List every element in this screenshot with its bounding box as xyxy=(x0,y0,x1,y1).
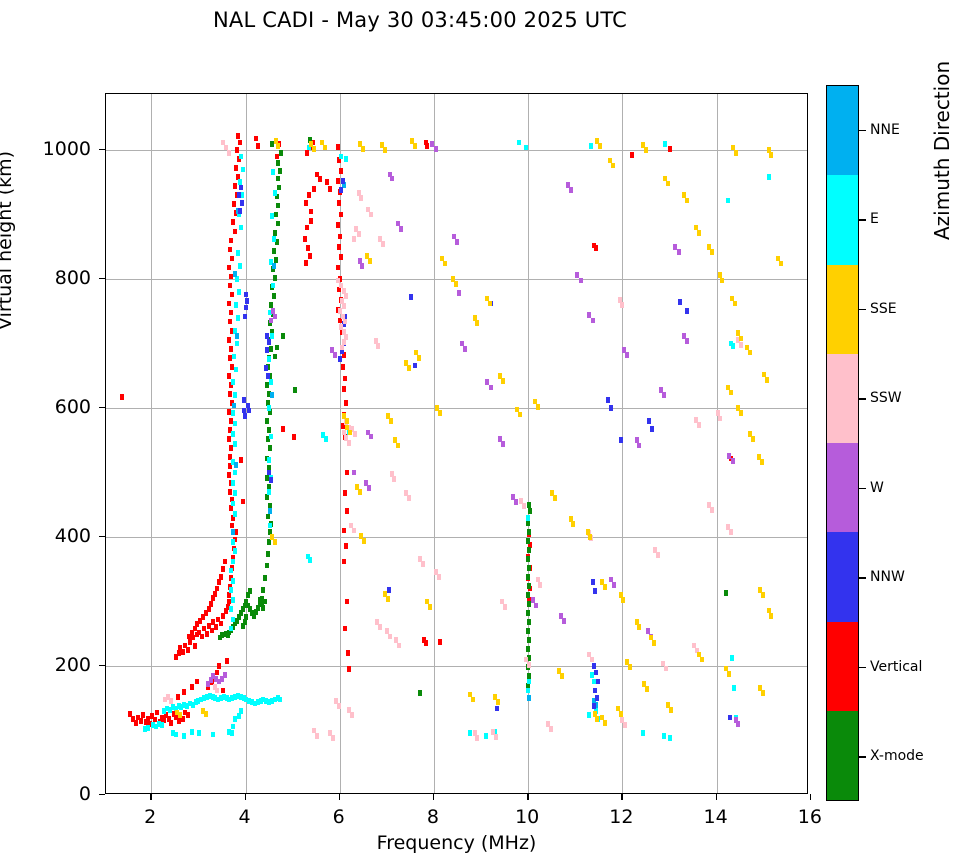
echo-marker-e xyxy=(268,523,272,529)
colorbar-label-ssw: SSW xyxy=(870,390,902,406)
echo-marker-e xyxy=(239,154,243,160)
echo-marker-vertical xyxy=(256,143,260,149)
echo-marker-nnw xyxy=(591,579,595,585)
echo-marker-nnw xyxy=(243,413,247,419)
echo-marker-vertical xyxy=(594,245,598,251)
echo-marker-x-mode xyxy=(526,628,530,634)
echo-marker-sse xyxy=(396,443,400,449)
echo-marker-nnw xyxy=(609,405,613,411)
y-axis-tick-label: 600 xyxy=(0,396,91,418)
echo-marker-w xyxy=(731,458,735,464)
echo-marker-x-mode xyxy=(276,203,280,209)
echo-marker-vertical xyxy=(343,626,347,632)
echo-marker-e xyxy=(231,431,235,437)
echo-marker-sse xyxy=(748,350,752,356)
echo-marker-vertical xyxy=(215,670,219,676)
echo-marker-ssw xyxy=(527,662,531,668)
echo-marker-x-mode xyxy=(526,646,530,652)
echo-marker-vertical xyxy=(292,434,296,440)
echo-marker-sse xyxy=(760,459,764,465)
echo-marker-x-mode xyxy=(418,690,422,696)
echo-marker-sse xyxy=(669,707,673,713)
echo-marker-vertical xyxy=(275,154,279,160)
echo-marker-sse xyxy=(603,584,607,590)
echo-marker-ssw xyxy=(350,712,354,718)
echo-marker-w xyxy=(273,314,277,320)
echo-marker-sse xyxy=(733,301,737,307)
echo-marker-sse xyxy=(475,320,479,326)
echo-marker-vertical xyxy=(235,147,239,153)
echo-marker-ssw xyxy=(352,236,356,242)
colorbar-tick xyxy=(859,577,866,578)
echo-marker-sse xyxy=(611,163,615,169)
echo-marker-w xyxy=(514,499,518,505)
y-axis-tick xyxy=(99,536,105,537)
echo-marker-w xyxy=(269,318,273,324)
echo-marker-e xyxy=(231,480,235,486)
echo-marker-x-mode xyxy=(527,529,531,535)
echo-marker-sse xyxy=(273,539,277,545)
echo-marker-nnw xyxy=(265,347,269,353)
echo-marker-nne xyxy=(527,695,531,701)
echo-marker-x-mode xyxy=(528,508,532,514)
x-axis-tick xyxy=(433,794,434,800)
echo-marker-e xyxy=(233,470,237,476)
echo-marker-x-mode xyxy=(526,592,530,598)
echo-marker-sse xyxy=(628,664,632,670)
echo-marker-vertical xyxy=(231,219,235,225)
echo-marker-sse xyxy=(488,301,492,307)
echo-marker-nnw xyxy=(265,333,269,339)
echo-marker-vertical xyxy=(225,658,229,664)
echo-marker-vertical xyxy=(229,346,233,352)
echo-marker-e xyxy=(197,730,201,736)
echo-marker-sse xyxy=(666,181,670,187)
echo-marker-ssw xyxy=(359,195,363,201)
echo-marker-sse xyxy=(518,412,522,418)
echo-marker-nnw xyxy=(593,588,597,594)
echo-marker-e xyxy=(231,724,235,730)
colorbar-tick xyxy=(859,488,866,489)
echo-marker-sse xyxy=(323,145,327,151)
x-axis-tick xyxy=(716,794,717,800)
echo-marker-e xyxy=(236,250,240,256)
echo-marker-e xyxy=(233,441,237,447)
echo-marker-vertical xyxy=(339,212,343,218)
x-axis-tick-label: 2 xyxy=(144,806,156,828)
echo-marker-vertical xyxy=(345,599,349,605)
echo-marker-x-mode xyxy=(276,221,280,227)
gridline-vertical xyxy=(246,94,247,793)
echo-marker-vertical xyxy=(141,712,145,718)
echo-marker-w xyxy=(662,392,666,398)
echo-marker-vertical xyxy=(186,647,190,653)
echo-marker-e xyxy=(267,356,271,362)
echo-marker-x-mode xyxy=(526,610,530,616)
echo-marker-ssw xyxy=(710,507,714,513)
echo-marker-vertical xyxy=(309,209,313,215)
echo-marker-ssw xyxy=(392,476,396,482)
echo-marker-nnw xyxy=(264,365,268,371)
echo-marker-sse xyxy=(312,146,316,152)
echo-marker-sse xyxy=(595,716,599,722)
echo-marker-vertical xyxy=(200,634,204,640)
echo-marker-x-mode xyxy=(273,354,277,360)
y-axis-tick xyxy=(99,665,105,666)
echo-marker-ssw xyxy=(315,733,319,739)
echo-marker-vertical xyxy=(254,136,258,142)
echo-marker-vertical xyxy=(221,688,225,694)
echo-marker-ssw xyxy=(215,688,219,694)
echo-marker-nnw xyxy=(242,397,246,403)
echo-marker-vertical xyxy=(305,150,309,156)
echo-marker-e xyxy=(233,511,237,517)
echo-marker-vertical xyxy=(230,256,234,262)
echo-marker-nnw xyxy=(592,703,596,709)
colorbar-label-nnw: NNW xyxy=(870,569,905,585)
echo-marker-vertical xyxy=(347,666,351,672)
echo-marker-sse xyxy=(428,604,432,610)
echo-marker-vertical xyxy=(325,179,329,185)
echo-marker-x-mode xyxy=(278,168,282,174)
echo-marker-e xyxy=(484,733,488,739)
echo-marker-sse xyxy=(407,365,411,371)
echo-marker-ssw xyxy=(664,666,668,672)
echo-marker-vertical xyxy=(155,710,159,716)
echo-marker-nne xyxy=(232,403,236,409)
colorbar-tick xyxy=(859,309,866,310)
echo-marker-vertical xyxy=(312,186,316,192)
x-axis-tick xyxy=(527,794,528,800)
y-axis-tick-label: 200 xyxy=(0,654,91,676)
echo-marker-vertical xyxy=(345,470,349,476)
y-axis-tick xyxy=(99,278,105,279)
echo-marker-sse xyxy=(383,147,387,153)
echo-marker-x-mode xyxy=(276,160,280,166)
echo-marker-w xyxy=(434,146,438,152)
echo-marker-vertical xyxy=(425,143,429,149)
echo-marker-sse xyxy=(685,198,689,204)
echo-marker-w xyxy=(457,290,461,296)
echo-marker-ssw xyxy=(343,319,347,325)
echo-marker-vertical xyxy=(234,165,238,171)
echo-marker-e xyxy=(232,354,236,360)
echo-marker-sse xyxy=(496,699,500,705)
echo-marker-w xyxy=(736,721,740,727)
echo-marker-vertical xyxy=(182,689,186,695)
echo-marker-sse xyxy=(358,489,362,495)
echo-marker-sse xyxy=(761,690,765,696)
echo-marker-sse xyxy=(739,410,743,416)
echo-marker-e xyxy=(271,169,275,175)
echo-marker-vertical xyxy=(191,635,195,641)
echo-marker-ssw xyxy=(503,604,507,610)
echo-marker-e xyxy=(468,730,472,736)
echo-marker-vertical xyxy=(339,168,343,174)
echo-marker-e xyxy=(241,167,245,173)
echo-marker-e xyxy=(235,276,239,282)
echo-marker-vertical xyxy=(345,508,349,514)
echo-marker-e xyxy=(190,729,194,735)
echo-marker-x-mode xyxy=(267,539,271,545)
echo-marker-e xyxy=(229,606,233,612)
echo-marker-e xyxy=(231,578,235,584)
x-axis-tick-label: 4 xyxy=(238,806,250,828)
echo-marker-ssw xyxy=(475,735,479,741)
echo-marker-vertical xyxy=(337,244,341,250)
echo-marker-vertical xyxy=(228,391,232,397)
echo-marker-e xyxy=(231,379,235,385)
echo-marker-w xyxy=(367,485,371,491)
echo-marker-nnw xyxy=(267,470,271,476)
x-axis-tick-label: 8 xyxy=(427,806,439,828)
echo-marker-w xyxy=(352,470,356,476)
echo-marker-sse xyxy=(368,258,372,264)
echo-marker-e xyxy=(587,712,591,718)
echo-marker-w xyxy=(501,441,505,447)
echo-marker-x-mode xyxy=(527,619,531,625)
x-axis-tick xyxy=(245,794,246,800)
echo-marker-x-mode xyxy=(724,590,728,596)
echo-marker-x-mode xyxy=(265,563,269,569)
echo-marker-e xyxy=(229,568,233,574)
colorbar-label-e: E xyxy=(870,211,879,227)
colorbar-band-sse xyxy=(827,265,858,354)
echo-marker-vertical xyxy=(668,146,672,152)
echo-marker-e xyxy=(308,557,312,563)
echo-marker-nnw xyxy=(594,670,598,676)
echo-marker-nnw xyxy=(245,298,249,304)
colorbar-band-nne xyxy=(827,86,858,175)
echo-marker-nnw xyxy=(619,437,623,443)
echo-marker-vertical xyxy=(344,543,348,549)
echo-marker-vertical xyxy=(229,238,233,244)
echo-marker-ssw xyxy=(169,698,173,704)
echo-marker-vertical xyxy=(181,649,185,655)
echo-marker-vertical xyxy=(338,234,342,240)
echo-marker-w xyxy=(333,352,337,358)
echo-marker-vertical xyxy=(336,222,340,228)
echo-marker-nnw xyxy=(728,715,732,721)
echo-marker-ssw xyxy=(344,293,348,299)
echo-marker-x-mode xyxy=(269,302,273,308)
gridline-horizontal xyxy=(106,666,807,667)
echo-marker-vertical xyxy=(193,643,197,649)
echo-marker-x-mode xyxy=(526,538,530,544)
echo-marker-e xyxy=(526,515,530,521)
echo-marker-vertical xyxy=(336,144,340,150)
echo-marker-sse xyxy=(761,592,765,598)
echo-marker-e xyxy=(344,156,348,162)
echo-marker-nnw xyxy=(266,373,270,379)
echo-marker-vertical xyxy=(228,319,232,325)
echo-marker-vertical xyxy=(233,229,237,235)
echo-marker-ssw xyxy=(227,150,231,156)
echo-marker-vertical xyxy=(181,716,185,722)
echo-marker-e xyxy=(271,283,275,289)
echo-marker-x-mode xyxy=(272,293,276,299)
y-axis-tick-label: 0 xyxy=(0,783,91,805)
echo-marker-nnw xyxy=(244,305,248,311)
echo-marker-ssw xyxy=(697,422,701,428)
echo-marker-vertical xyxy=(221,566,225,572)
echo-marker-vertical xyxy=(304,200,308,206)
echo-marker-nnw xyxy=(592,663,596,669)
echo-marker-w xyxy=(369,434,373,440)
echo-marker-e xyxy=(267,489,271,495)
x-axis-tick xyxy=(810,794,811,800)
echo-marker-e xyxy=(339,154,343,160)
colorbar-tick xyxy=(859,130,866,131)
echo-marker-vertical xyxy=(336,265,340,271)
echo-marker-sse xyxy=(729,390,733,396)
echo-marker-vertical xyxy=(195,679,199,685)
echo-marker-sse xyxy=(501,378,505,384)
echo-marker-ssw xyxy=(369,212,373,218)
echo-marker-e xyxy=(269,434,273,440)
x-axis-tick-label: 14 xyxy=(704,806,728,828)
echo-marker-vertical xyxy=(134,720,138,726)
colorbar-tick xyxy=(859,756,866,757)
echo-marker-e xyxy=(237,713,241,719)
echo-marker-sse xyxy=(588,534,592,540)
x-axis-tick xyxy=(621,794,622,800)
echo-marker-ssw xyxy=(656,552,660,558)
echo-marker-x-mode xyxy=(526,520,530,526)
echo-marker-x-mode xyxy=(261,587,265,593)
colorbar-band-x-mode xyxy=(827,711,858,800)
echo-marker-nnw xyxy=(593,688,597,694)
echo-marker-x-mode xyxy=(527,565,531,571)
echo-marker-w xyxy=(463,346,467,352)
echo-marker-ssw xyxy=(538,582,542,588)
echo-marker-w xyxy=(455,239,459,245)
echo-marker-w xyxy=(625,352,629,358)
colorbar-label-sse: SSE xyxy=(870,301,897,317)
echo-marker-sse xyxy=(553,495,557,501)
echo-marker-vertical xyxy=(346,650,350,656)
echo-marker-e xyxy=(234,302,238,308)
gridline-vertical xyxy=(622,94,623,793)
echo-marker-w xyxy=(637,443,641,449)
echo-marker-e xyxy=(278,697,282,703)
echo-marker-nnw xyxy=(606,397,610,403)
echo-marker-e xyxy=(233,490,237,496)
colorbar-band-e xyxy=(827,175,858,264)
echo-marker-vertical xyxy=(241,499,245,505)
echo-marker-vertical xyxy=(305,225,309,231)
echo-marker-nnw xyxy=(239,185,243,191)
echo-marker-e xyxy=(211,732,215,738)
echo-marker-nnw xyxy=(685,308,689,314)
echo-marker-e xyxy=(238,263,242,269)
echo-marker-vertical xyxy=(227,301,231,307)
echo-marker-sse xyxy=(739,336,743,342)
echo-marker-nne xyxy=(234,462,238,468)
echo-marker-vertical xyxy=(176,694,180,700)
echo-marker-w xyxy=(489,385,493,391)
echo-marker-ssw xyxy=(352,528,356,534)
echo-marker-vertical xyxy=(139,718,143,724)
echo-marker-vertical xyxy=(309,218,313,224)
echo-marker-ssw xyxy=(381,241,385,247)
echo-marker-e xyxy=(269,379,273,385)
echo-marker-nnw xyxy=(409,294,413,300)
echo-marker-e xyxy=(229,626,233,632)
echo-marker-vertical xyxy=(337,200,341,206)
echo-marker-e xyxy=(230,730,234,736)
echo-marker-ssw xyxy=(378,624,382,630)
echo-marker-w xyxy=(534,603,538,609)
ionogram-plot-frame xyxy=(105,93,808,794)
echo-marker-w xyxy=(562,618,566,624)
echo-marker-vertical xyxy=(230,292,234,298)
echo-marker-vertical xyxy=(186,712,190,718)
x-axis-tick xyxy=(339,794,340,800)
echo-marker-e xyxy=(235,341,239,347)
echo-marker-vertical xyxy=(205,631,209,637)
echo-marker-sse xyxy=(345,418,349,424)
echo-marker-sse xyxy=(710,249,714,255)
echo-marker-sse xyxy=(536,404,540,410)
echo-marker-e xyxy=(526,688,530,694)
echo-marker-e xyxy=(517,140,521,146)
echo-marker-vertical xyxy=(342,528,346,534)
echo-marker-vertical xyxy=(227,472,231,478)
echo-marker-vertical xyxy=(227,599,231,605)
echo-marker-e xyxy=(234,367,238,373)
echo-marker-vertical xyxy=(238,140,242,146)
echo-marker-sse xyxy=(603,720,607,726)
page-title: NAL CADI - May 30 03:45:00 2025 UTC xyxy=(0,8,840,32)
echo-marker-ssw xyxy=(353,431,357,437)
echo-marker-ssw xyxy=(397,643,401,649)
colorbar-label-w: W xyxy=(870,480,884,496)
echo-marker-nnw xyxy=(596,679,600,685)
echo-marker-e xyxy=(239,708,243,714)
echo-marker-ssw xyxy=(522,503,526,509)
echo-marker-vertical xyxy=(630,152,634,158)
echo-marker-vertical xyxy=(227,436,231,442)
echo-marker-ssw xyxy=(729,529,733,535)
x-axis-tick-label: 10 xyxy=(515,806,539,828)
echo-marker-vertical xyxy=(343,490,347,496)
echo-marker-sse xyxy=(178,712,182,718)
echo-marker-vertical xyxy=(281,426,285,432)
colorbar-band-vertical xyxy=(827,622,858,711)
echo-marker-x-mode xyxy=(266,514,270,520)
echo-marker-sse xyxy=(386,596,390,602)
echo-marker-vertical xyxy=(228,247,232,253)
echo-marker-w xyxy=(685,338,689,344)
echo-marker-x-mode xyxy=(266,551,270,557)
echo-marker-vertical xyxy=(232,201,236,207)
echo-marker-nne xyxy=(272,263,276,269)
echo-marker-ssw xyxy=(342,303,346,309)
echo-marker-x-mode xyxy=(263,575,267,581)
echo-marker-nne xyxy=(231,529,235,535)
echo-marker-ssw xyxy=(421,561,425,567)
y-axis-tick xyxy=(99,149,105,150)
echo-marker-nnw xyxy=(341,178,345,184)
echo-marker-w xyxy=(569,187,573,193)
echo-marker-ssw xyxy=(407,495,411,501)
echo-marker-e xyxy=(233,548,237,554)
echo-marker-e xyxy=(231,539,235,545)
echo-marker-x-mode xyxy=(261,605,265,611)
echo-marker-x-mode xyxy=(527,583,531,589)
colorbar-band-ssw xyxy=(827,354,858,443)
